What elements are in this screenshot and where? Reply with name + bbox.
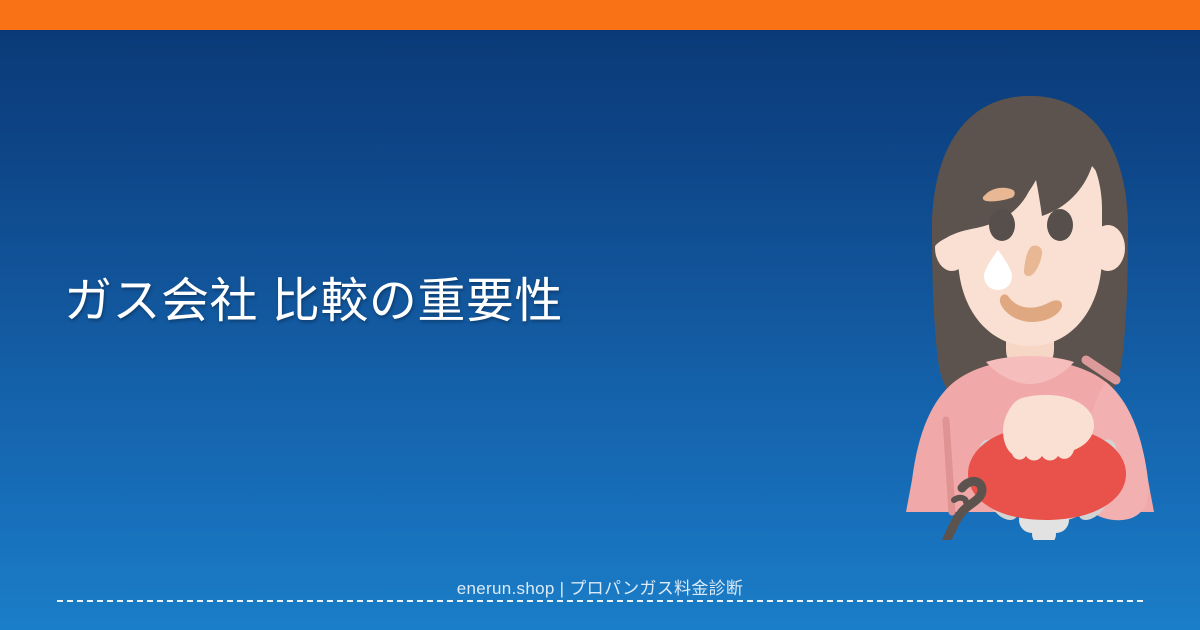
- footer-divider: [57, 600, 1143, 602]
- footer-branding: enerun.shop | プロパンガス料金診断: [0, 574, 1200, 599]
- page-title: ガス会社 比較の重要性: [64, 272, 824, 332]
- orange-accent-bar: [0, 0, 1200, 30]
- worried-woman-illustration: [880, 60, 1200, 540]
- share-card-canvas: ガス会社 比較の重要性: [0, 0, 1200, 630]
